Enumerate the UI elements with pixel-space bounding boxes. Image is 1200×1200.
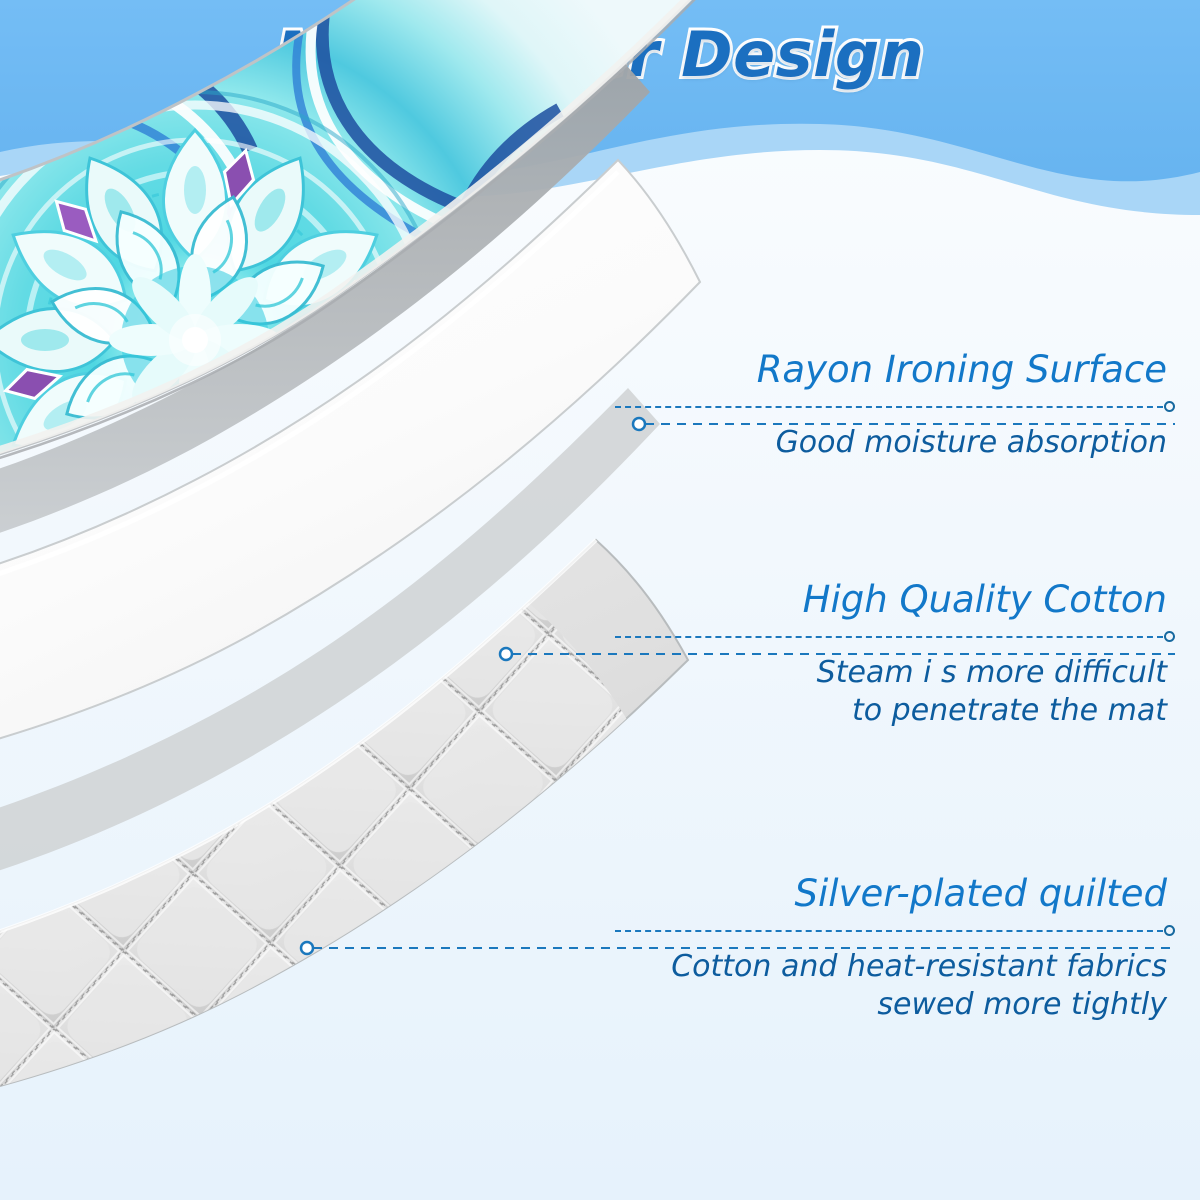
callout-title: Rayon Ironing Surface xyxy=(615,348,1175,392)
connector-end-dot-icon xyxy=(1164,925,1175,936)
callout-subtitle-line: Cotton and heat-resistant fabrics xyxy=(615,948,1167,986)
callout-subtitle-line: Steam i s more difficult xyxy=(615,654,1167,692)
callout-subtitle-line: Good moisture absorption xyxy=(615,424,1167,462)
callout-subtitle-line: to penetrate the mat xyxy=(615,692,1167,730)
dashed-line xyxy=(615,406,1163,408)
callout-subtitle: Cotton and heat-resistant fabrics sewed … xyxy=(615,948,1175,1025)
callout-silver-plated-quilted: Silver-plated quilted Cotton and heat-re… xyxy=(615,872,1175,1024)
callout-title: Silver-plated quilted xyxy=(615,872,1175,916)
callout-subtitle: Steam i s more difficult to penetrate th… xyxy=(615,654,1175,731)
callout-subtitle-line: sewed more tightly xyxy=(615,986,1167,1024)
callout-connector xyxy=(615,628,1175,646)
callout-connector xyxy=(615,922,1175,940)
callout-high-quality-cotton: High Quality Cotton Steam i s more diffi… xyxy=(615,578,1175,730)
connector-end-dot-icon xyxy=(1164,401,1175,412)
dashed-line xyxy=(615,636,1163,638)
callout-subtitle: Good moisture absorption xyxy=(615,424,1175,462)
callout-title: High Quality Cotton xyxy=(615,578,1175,622)
callout-connector xyxy=(615,398,1175,416)
connector-end-dot-icon xyxy=(1164,631,1175,642)
callout-rayon-ironing-surface: Rayon Ironing Surface Good moisture abso… xyxy=(615,348,1175,462)
dashed-line xyxy=(615,930,1163,932)
product-layer-stack xyxy=(0,0,720,1200)
infographic-page: Multi-layer Design xyxy=(0,0,1200,1200)
